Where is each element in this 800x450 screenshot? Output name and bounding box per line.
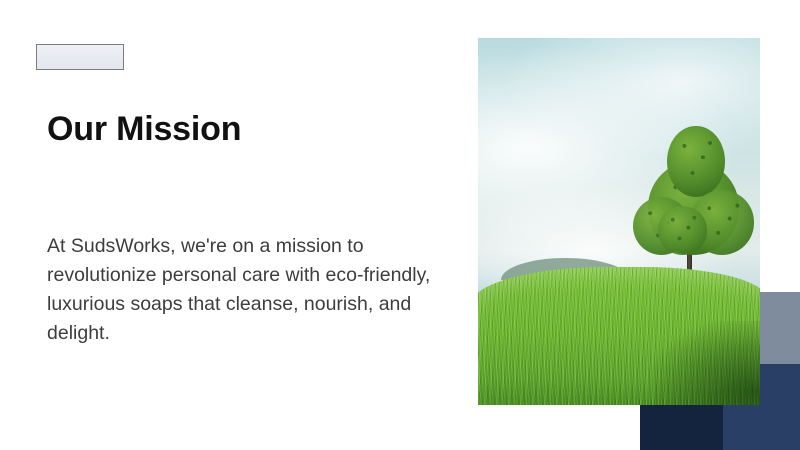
hero-image [478,38,760,405]
hero-image-sky [478,38,760,405]
slide-body-text: At SudsWorks, we're on a mission to revo… [47,232,437,347]
tree-canopy [667,126,724,197]
slide-canvas: Our Mission At SudsWorks, we're on a mis… [0,0,800,450]
accent-tag-box [36,44,124,70]
hero-image-tree [630,122,754,283]
decoration-navy-block-mid [723,405,800,450]
hero-image-grass-field [478,267,760,405]
decoration-navy-block-dark [640,405,723,450]
grass-shadow [654,321,760,405]
slide-title: Our Mission [47,110,241,149]
tree-canopy [658,206,708,254]
decoration-slate-block [760,292,800,364]
